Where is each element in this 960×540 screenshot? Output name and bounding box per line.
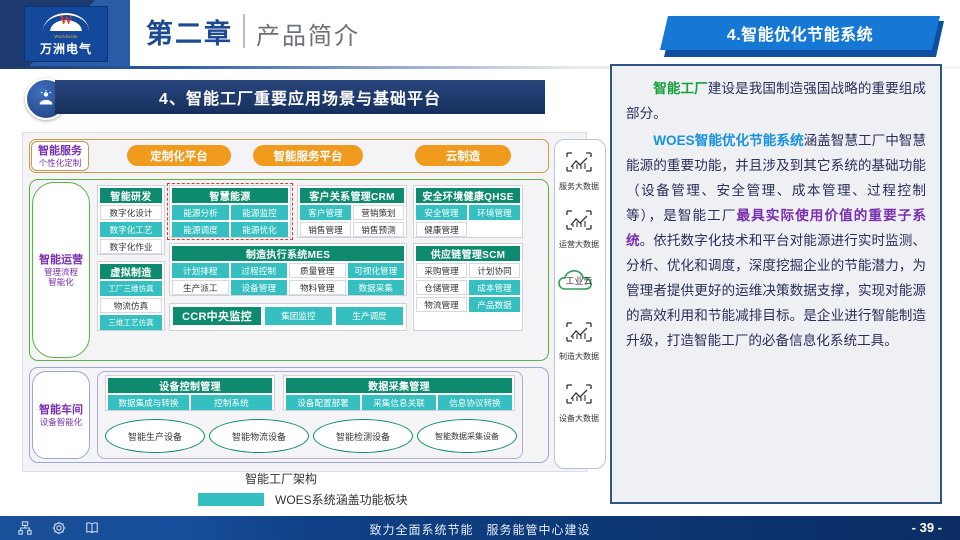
smart-factory-architecture-diagram: 智能服务 个性化定制 定制化平台 智能服务平台 云制造 智能运营 管理流程 智能… [22, 132, 587, 472]
card-crm-title: 客户关系管理CRM [300, 188, 404, 203]
bigdata-service[interactable]: 服务大数据 [554, 149, 604, 192]
card-scm-item-0[interactable]: 采购管理 [416, 263, 467, 278]
card-mes-item-2[interactable]: 质量管理 [289, 263, 346, 278]
header-subtitle: 产品简介 [256, 16, 360, 51]
paragraph-2-part-d: 。依托数字化技术和平台对能源进行实时监测、分析、优化和调度，深度挖掘企业的节能潜… [626, 233, 926, 348]
card-data-acquisition: 数据采集管理 设备配置部署 采集信息关联 信息协议转换 [283, 375, 515, 411]
bigdata-manufacturing-label: 制造大数据 [554, 351, 604, 362]
card-device-control-item-1[interactable]: 控制系统 [191, 395, 272, 410]
section-title-text: 4、智能工厂重要应用场景与基础平台 [159, 85, 441, 109]
card-qhse-item-1[interactable]: 环境管理 [469, 205, 520, 220]
card-rnd-title: 智能研发 [100, 188, 162, 203]
card-mes-item-3[interactable]: 可视化管理 [348, 263, 405, 278]
card-virtual-title: 虚拟制造 [100, 264, 162, 279]
industrial-cloud[interactable]: 工业云 [557, 267, 601, 293]
card-qhse-title: 安全环境健康QHSE [416, 188, 520, 203]
layer-tag-service-title: 智能服务 [38, 145, 82, 158]
card-rnd: 智能研发 数字化设计 数字化工艺 数字化作业 [97, 185, 165, 255]
card-scm-item-1[interactable]: 计划协同 [469, 263, 520, 278]
logo-chinese-name: 万洲电气 [40, 40, 92, 57]
card-scm-item-2[interactable]: 仓储管理 [416, 280, 467, 295]
layer-tag-service: 智能服务 个性化定制 [31, 141, 89, 171]
card-crm-item-1[interactable]: 营销策划 [353, 205, 404, 220]
layer-tag-operation: 智能运营 管理流程 智能化 [32, 182, 90, 358]
card-device-control: 设备控制管理 数据集成与转换 控制系统 [105, 375, 275, 411]
layer-tag-workshop-sub: 设备智能化 [40, 417, 83, 427]
logo-mark-icon: W [43, 11, 89, 33]
right-title-banner: 4.智能优化节能系统 [660, 16, 940, 54]
industrial-cloud-label: 工业云 [557, 274, 601, 287]
card-rnd-item-1[interactable]: 数字化工艺 [100, 222, 162, 237]
card-virtual-item-2[interactable]: 三维工艺仿真 [100, 315, 162, 330]
device-ellipse-logistics[interactable]: 智能物流设备 [209, 419, 309, 453]
chart-frame-icon [563, 149, 595, 175]
platform-pill-cloud[interactable]: 云制造 [415, 145, 511, 166]
bigdata-operation[interactable]: 运营大数据 [554, 207, 604, 250]
bigdata-equipment[interactable]: 设备大数据 [554, 381, 604, 424]
layer-tag-service-sub: 个性化定制 [39, 158, 82, 168]
right-description-panel: 智能工厂建设是我国制造强国战略的重要组成部分。 WOES智能优化节能系统涵盖智慧… [610, 64, 942, 504]
card-data-acq-title: 数据采集管理 [286, 378, 512, 393]
chapter-title: 第二章 [146, 12, 233, 51]
card-device-control-title: 设备控制管理 [108, 378, 272, 393]
card-ccr-item-0[interactable]: 集团监控 [265, 307, 332, 325]
card-mes-item-6[interactable]: 物料管理 [289, 280, 346, 295]
layer-tag-workshop-title: 智能车间 [39, 404, 83, 417]
layer-tag-workshop: 智能车间 设备智能化 [32, 371, 90, 459]
right-title-text: 4.智能优化节能系统 [727, 21, 873, 45]
device-ellipse-inspection-label: 智能检测设备 [336, 430, 390, 443]
bigdata-operation-label: 运营大数据 [554, 239, 604, 250]
card-crm-item-2[interactable]: 销售管理 [300, 222, 351, 237]
paragraph-1: 智能工厂建设是我国制造强国战略的重要组成部分。 [626, 76, 926, 126]
bigdata-manufacturing[interactable]: 制造大数据 [554, 319, 604, 362]
dashed-highlight-energy [167, 183, 293, 240]
card-mes-item-7[interactable]: 数据采集 [348, 280, 405, 295]
legend-swatch [198, 493, 264, 506]
device-ellipse-data-collection[interactable]: 智能数据采集设备 [417, 419, 517, 453]
card-qhse-item-2[interactable]: 健康管理 [416, 222, 467, 237]
card-mes-title: 制造执行系统MES [172, 246, 404, 261]
card-mes-item-0[interactable]: 计划排程 [172, 263, 229, 278]
highlight-woes: WOES智能优化节能系统 [653, 133, 803, 148]
platform-pill-cloud-label: 云制造 [446, 148, 481, 164]
platform-pill-custom[interactable]: 定制化平台 [127, 145, 231, 166]
card-mes-item-5[interactable]: 设备管理 [231, 280, 288, 295]
device-ellipse-logistics-label: 智能物流设备 [232, 430, 286, 443]
card-mes: 制造执行系统MES 计划排程 过程控制 质量管理 可视化管理 生产派工 设备管理… [169, 243, 407, 296]
footer-slogan: 致力全面系统节能 服务能管中心建设 [0, 521, 960, 538]
chart-frame-icon [563, 319, 595, 345]
logo-english-name: Worldwide [54, 34, 78, 39]
platform-pill-service[interactable]: 智能服务平台 [253, 145, 363, 166]
card-ccr-title: CCR中央监控 [173, 307, 261, 325]
card-device-control-item-0[interactable]: 数据集成与转换 [108, 395, 189, 410]
card-crm-item-0[interactable]: 客户管理 [300, 205, 351, 220]
logo-letter: W [53, 14, 79, 26]
card-scm-item-5[interactable]: 产品数据 [469, 297, 520, 312]
card-virtual-item-1[interactable]: 物流仿真 [100, 298, 162, 313]
chart-frame-icon [563, 207, 595, 233]
card-scm: 供应链管理SCM 采购管理 计划协同 仓储管理 成本管理 物流管理 产品数据 [413, 243, 523, 331]
chart-frame-icon [563, 381, 595, 407]
diagram-caption: 智能工厂架构 [245, 470, 317, 487]
device-ellipse-production-label: 智能生产设备 [128, 430, 182, 443]
card-crm-item-3[interactable]: 销售预测 [353, 222, 404, 237]
bigdata-service-label: 服务大数据 [554, 181, 604, 192]
company-logo: W Worldwide 万洲电气 [24, 6, 108, 62]
card-virtual-manufacturing: 虚拟制造 工厂三维仿真 物流仿真 三维工艺仿真 [97, 261, 165, 331]
header-divider [243, 14, 245, 48]
card-ccr-item-1[interactable]: 生产调度 [336, 307, 403, 325]
card-virtual-item-0[interactable]: 工厂三维仿真 [100, 281, 162, 296]
card-ccr: CCR中央监控 集团监控 生产调度 [169, 303, 407, 331]
layer-tag-operation-title: 智能运营 [39, 254, 83, 267]
platform-pill-service-label: 智能服务平台 [274, 148, 343, 164]
card-data-acq-item-1[interactable]: 采集信息关联 [362, 395, 436, 410]
device-ellipse-data-collection-label: 智能数据采集设备 [435, 431, 499, 442]
card-crm: 客户关系管理CRM 客户管理 营销策划 销售管理 销售预测 [297, 185, 407, 238]
page-number: - 39 - [912, 520, 942, 535]
card-qhse-item-3 [469, 222, 520, 237]
device-ellipse-inspection[interactable]: 智能检测设备 [313, 419, 413, 453]
layer-tag-operation-sub: 管理流程 智能化 [44, 267, 78, 287]
bigdata-equipment-label: 设备大数据 [554, 413, 604, 424]
card-scm-title: 供应链管理SCM [416, 246, 520, 261]
paragraph-2: WOES智能优化节能系统涵盖智慧工厂中智慧能源的重要功能，并且涉及到其它系统的基… [626, 128, 926, 353]
section-title-box: 4、智能工厂重要应用场景与基础平台 [55, 80, 545, 114]
section-title-bar: 4、智能工厂重要应用场景与基础平台 [25, 80, 545, 114]
device-ellipse-production[interactable]: 智能生产设备 [105, 419, 205, 453]
card-data-acq-item-0[interactable]: 设备配置部署 [286, 395, 360, 410]
card-mes-item-4[interactable]: 生产派工 [172, 280, 229, 295]
card-qhse-item-0[interactable]: 安全管理 [416, 205, 467, 220]
platform-pill-custom-label: 定制化平台 [150, 148, 208, 164]
card-scm-item-4[interactable]: 物流管理 [416, 297, 467, 312]
card-rnd-item-2[interactable]: 数字化作业 [100, 239, 162, 254]
card-rnd-item-0[interactable]: 数字化设计 [100, 205, 162, 220]
card-mes-item-1[interactable]: 过程控制 [231, 263, 288, 278]
highlight-smart-factory: 智能工厂 [653, 81, 708, 96]
card-scm-item-3[interactable]: 成本管理 [469, 280, 520, 295]
right-title-box: 4.智能优化节能系统 [660, 16, 940, 50]
card-data-acq-item-2[interactable]: 信息协议转换 [438, 395, 512, 410]
card-qhse: 安全环境健康QHSE 安全管理 环境管理 健康管理 [413, 185, 523, 238]
legend-label: WOES系统涵盖功能板块 [275, 491, 408, 508]
